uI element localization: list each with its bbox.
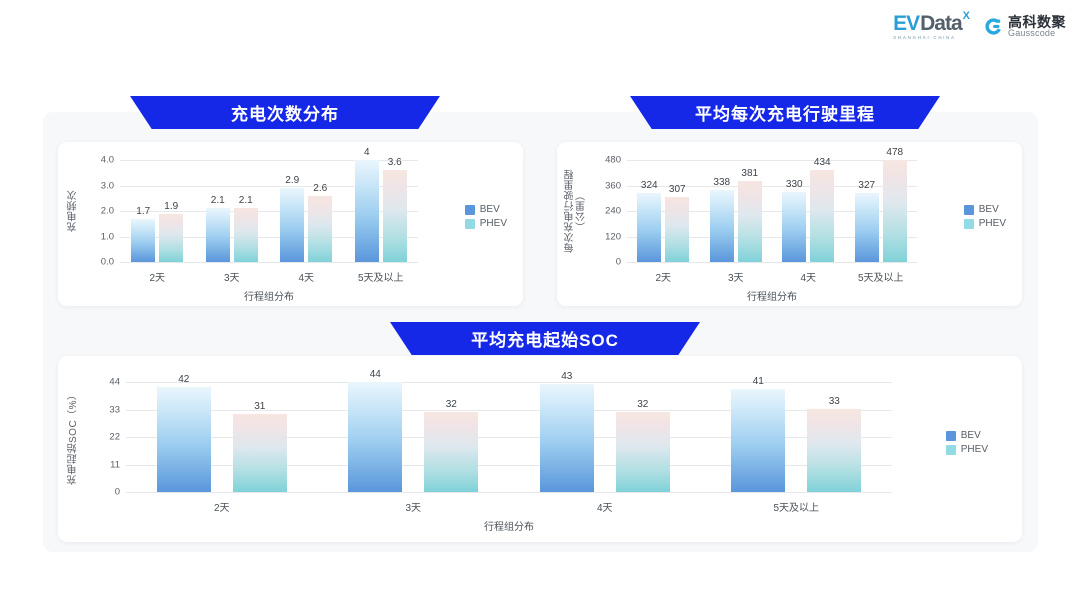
bar-value-label: 4 [364,147,370,158]
bar-bev[interactable]: 43 [540,384,594,492]
legend-label: PHEV [979,218,1006,229]
gausscode-cn-text: 高科数聚 [1008,15,1066,30]
bar-bev[interactable]: 324 [637,193,661,262]
evdata-ev-text: EV [893,13,919,34]
bar-group: 327478 [845,160,918,262]
chart-banner-charging-frequency: 充电次数分布 [130,96,440,129]
x-axis-tick-label: 4天 [509,499,701,514]
bar-groups: 1.71.92.12.12.92.643.6 [120,160,418,262]
bar-value-label: 330 [786,179,803,190]
bar-bev[interactable]: 2.9 [280,188,304,262]
y-axis-tick-label: 480 [605,155,621,166]
legend-swatch-icon [964,219,974,229]
y-axis-tick-label: 22 [109,432,120,443]
bar-phev[interactable]: 33 [807,409,861,492]
bar-value-label: 32 [637,399,648,410]
y-axis-tick-label: 44 [109,377,120,388]
bar-phev[interactable]: 381 [738,181,762,262]
bar-bev[interactable]: 1.7 [131,219,155,262]
chart-banner-avg-mileage: 平均每次充电行驶里程 [630,96,940,129]
bar-group: 43.6 [344,160,419,262]
bar-group: 330434 [772,160,845,262]
gridline [126,492,892,493]
legend-item-phev[interactable]: PHEV [465,218,507,229]
legend-swatch-icon [465,205,475,215]
legend-label: BEV [480,204,500,215]
bar-value-label: 1.9 [164,201,178,212]
gausscode-circle-icon [984,17,1003,36]
y-axis-tick-label: 360 [605,180,621,191]
bar-value-label: 478 [886,147,903,158]
bar-phev[interactable]: 2.6 [308,196,332,262]
bar-groups: 324307338381330434327478 [627,160,917,262]
bar-value-label: 2.1 [211,195,225,206]
legend-item-bev[interactable]: BEV [465,204,507,215]
x-axis-tick-label: 5天及以上 [845,269,918,284]
y-axis-label-line1: 每次充电行驶里程 [565,169,576,253]
bar-group: 4133 [701,382,893,492]
legend-swatch-icon [946,431,956,441]
chart-legend: BEVPHEV [946,430,988,455]
gausscode-en-text: Gausscode [1008,29,1066,38]
bar-phev[interactable]: 31 [233,414,287,492]
gridline [627,262,917,263]
bar-phev[interactable]: 307 [665,197,689,262]
x-axis-tick-label: 2天 [627,269,700,284]
legend-label: PHEV [961,444,988,455]
bar-value-label: 3.6 [388,157,402,168]
x-axis-tick-label: 4天 [269,269,344,284]
x-axis-tick-label: 2天 [120,269,195,284]
legend-item-phev[interactable]: PHEV [946,444,988,455]
bar-value-label: 1.7 [136,206,150,217]
bar-group: 4432 [318,382,510,492]
y-axis-label: 充电起始SOC（%） [68,382,94,492]
bar-bev[interactable]: 41 [731,389,785,492]
bar-value-label: 2.6 [313,183,327,194]
bar-bev[interactable]: 42 [157,387,211,492]
legend-label: PHEV [480,218,507,229]
slide-canvas: EV Data X SHANGHAI CHINA 高科数聚 Gausscode [0,0,1080,608]
bar-group: 4231 [126,382,318,492]
y-axis-label-line1: 充电频次 [68,190,79,232]
y-axis-tick-label: 3.0 [101,180,114,191]
x-axis-title: 行程组分布 [120,288,418,303]
y-axis-label: 充电频次 [68,160,81,262]
evdata-data-text: Data [920,13,962,34]
bar-value-label: 324 [641,180,658,191]
gausscode-wordmark: 高科数聚 Gausscode [1008,15,1066,39]
bar-group: 4332 [509,382,701,492]
chart-title-start-soc: 平均充电起始SOC [471,326,619,351]
bar-bev[interactable]: 327 [855,193,879,262]
y-axis-tick-label: 2.0 [101,206,114,217]
bar-value-label: 434 [814,157,831,168]
gridline [120,262,418,263]
bar-value-label: 2.1 [239,195,253,206]
legend-item-phev[interactable]: PHEV [964,218,1006,229]
bar-value-label: 381 [741,168,758,179]
y-axis-label-line2: （%） [68,389,79,419]
bar-bev[interactable]: 330 [782,192,806,262]
bar-value-label: 33 [829,396,840,407]
chart-plot-start-soc: 充电起始SOC（%）44332211042314432433241332天3天4… [58,356,1022,542]
legend-swatch-icon [465,219,475,229]
x-axis-tick-label: 5天及以上 [344,269,419,284]
legend-item-bev[interactable]: BEV [946,430,988,441]
bar-phev[interactable]: 32 [616,412,670,492]
bar-value-label: 42 [178,374,189,385]
y-axis-tick-label: 0.0 [101,257,114,268]
bar-value-label: 32 [446,399,457,410]
bar-group: 338381 [700,160,773,262]
x-axis-title: 行程组分布 [627,288,917,303]
bar-value-label: 44 [370,369,381,380]
legend-item-bev[interactable]: BEV [964,204,1006,215]
y-axis-tick-label: 240 [605,206,621,217]
bar-value-label: 327 [858,180,875,191]
y-axis-tick-label: 0 [616,257,621,268]
evdata-wordmark: EV Data X [893,13,970,34]
x-axis-tick-label: 3天 [318,499,510,514]
bar-group: 2.12.1 [195,160,270,262]
evdata-subtitle: SHANGHAI CHINA [893,36,956,41]
bar-phev[interactable]: 2.1 [234,208,258,262]
bar-phev[interactable]: 478 [883,160,907,262]
bar-bev[interactable]: 338 [710,190,734,262]
legend-swatch-icon [946,445,956,455]
bar-phev[interactable]: 434 [810,170,834,262]
bar-group: 1.71.9 [120,160,195,262]
bar-group: 2.92.6 [269,160,344,262]
legend-label: BEV [961,430,981,441]
y-axis-tick-label: 120 [605,231,621,242]
bar-value-label: 307 [669,184,686,195]
chart-legend: BEVPHEV [964,204,1006,229]
x-axis-tick-label: 5天及以上 [701,499,893,514]
gausscode-logo: 高科数聚 Gausscode [984,15,1066,39]
y-axis-tick-label: 0 [115,487,120,498]
chart-title-charging-frequency: 充电次数分布 [231,100,339,125]
bar-value-label: 31 [254,401,265,412]
legend-swatch-icon [964,205,974,215]
chart-plot-avg-mileage: 每次充电行驶里程（公里）4803602401200324307338381330… [557,142,1022,306]
bar-value-label: 338 [713,177,730,188]
chart-banner-start-soc: 平均充电起始SOC [390,322,700,355]
header-logos: EV Data X SHANGHAI CHINA 高科数聚 Gausscode [893,13,1066,41]
bar-phev[interactable]: 1.9 [159,214,183,262]
x-axis-tick-label: 3天 [195,269,270,284]
x-axis-tick-label: 3天 [700,269,773,284]
x-axis-tick-label: 2天 [126,499,318,514]
chart-legend: BEVPHEV [465,204,507,229]
y-axis-tick-label: 33 [109,404,120,415]
bar-groups: 4231443243324133 [126,382,892,492]
bar-value-label: 2.9 [285,175,299,186]
evdata-superscript-x: X [963,11,970,22]
bar-bev[interactable]: 44 [348,382,402,492]
y-axis-label-line2: （公里） [577,190,588,232]
x-axis-title: 行程组分布 [126,518,892,533]
bar-bev[interactable]: 4 [355,160,379,262]
y-axis-tick-label: 4.0 [101,155,114,166]
x-axis-tick-labels: 2天3天4天5天及以上 [120,269,418,284]
y-axis-label: 每次充电行驶里程（公里） [565,160,591,262]
legend-label: BEV [979,204,999,215]
y-axis-tick-label: 11 [110,459,120,470]
x-axis-tick-label: 4天 [772,269,845,284]
y-axis-tick-label: 1.0 [101,231,114,242]
bar-value-label: 41 [753,376,764,387]
chart-plot-charging-frequency: 充电频次4.03.02.01.00.01.71.92.12.12.92.643.… [58,142,523,306]
chart-title-avg-mileage: 平均每次充电行驶里程 [695,100,875,125]
y-axis-label-line1: 充电起始SOC [68,420,79,485]
bar-value-label: 43 [561,371,572,382]
bar-bev[interactable]: 2.1 [206,208,230,262]
x-axis-tick-labels: 2天3天4天5天及以上 [126,499,892,514]
evdata-logo: EV Data X SHANGHAI CHINA [893,13,970,41]
bar-phev[interactable]: 32 [424,412,478,492]
bar-group: 324307 [627,160,700,262]
bar-phev[interactable]: 3.6 [383,170,407,262]
x-axis-tick-labels: 2天3天4天5天及以上 [627,269,917,284]
